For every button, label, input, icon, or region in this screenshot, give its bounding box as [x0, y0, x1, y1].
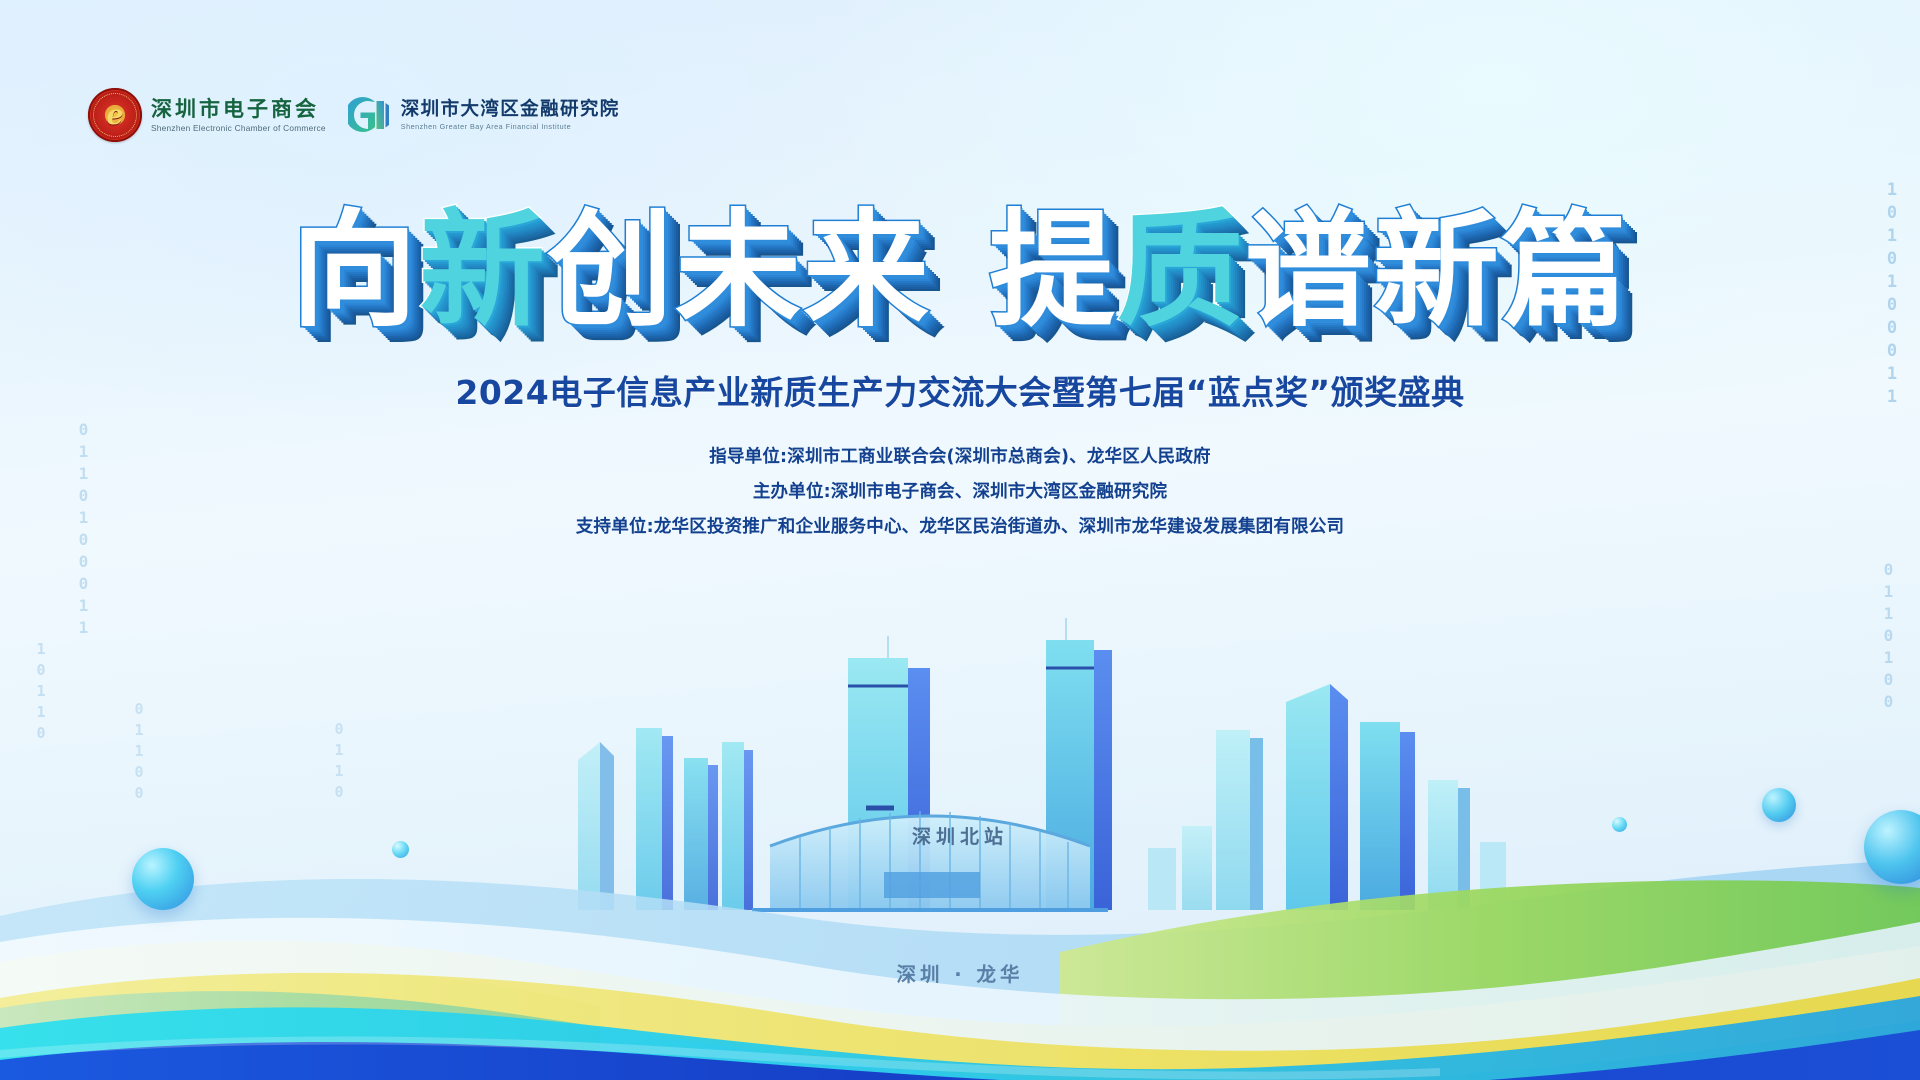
logo-text-block: 深圳市电子商会 Shenzhen Electronic Chamber of C…: [151, 97, 326, 133]
headline-char: 向: [291, 208, 419, 334]
place-label: 深圳 · 龙华: [0, 958, 1920, 987]
organizer-line-support: 支持单位:龙华区投资推广和企业服务中心、龙华区民治街道办、深圳市龙华建设发展集团…: [0, 510, 1920, 545]
banner-canvas: 1010100011 0110100 0110100011 10110 0110…: [0, 0, 1920, 1080]
headline-char: 篇: [1501, 208, 1629, 334]
headline-char-accent: 质: [1117, 208, 1245, 334]
logo-shenzhen-electronic-chamber-of-commerce: 深圳市电子商会 Shenzhen Electronic Chamber of C…: [88, 88, 326, 142]
headline-char: 未: [675, 208, 803, 334]
organizer-line-host: 主办单位:深圳市电子商会、深圳市大湾区金融研究院: [0, 475, 1920, 510]
headline-char: 新: [1373, 208, 1501, 334]
decor-orb-small-mid: [1612, 817, 1627, 832]
wave-decoration: [0, 720, 1920, 1080]
decor-orb-large-left: [132, 848, 194, 910]
organizer-line-guidance: 指导单位:深圳市工商业联合会(深圳市总商会)、龙华区人民政府: [0, 440, 1920, 475]
headline-char: 来: [803, 208, 931, 334]
organizer-block: 指导单位:深圳市工商业联合会(深圳市总商会)、龙华区人民政府 主办单位:深圳市电…: [0, 440, 1920, 545]
logo-name-cn: 深圳市电子商会: [151, 97, 326, 121]
decor-orb-medium-right: [1762, 788, 1796, 822]
logo-name-cn: 深圳市大湾区金融研究院: [401, 99, 620, 120]
headline-char-accent: 新: [419, 208, 547, 334]
headline-char: 谱: [1245, 208, 1373, 334]
logo-shenzhen-greater-bay-area-financial-institute: 深圳市大湾区金融研究院 Shenzhen Greater Bay Area Fi…: [348, 96, 620, 134]
logo-text-block: 深圳市大湾区金融研究院 Shenzhen Greater Bay Area Fi…: [401, 99, 620, 131]
headline-text: 向新创未来提质谱新篇: [291, 208, 1629, 334]
decor-orb-small-left: [392, 841, 409, 858]
headline-char: 创: [547, 208, 675, 334]
headline-char: 提: [989, 208, 1117, 334]
headline: 向新创未来提质谱新篇: [0, 208, 1920, 334]
event-subtitle: 2024电子信息产业新质生产力交流大会暨第七届“蓝点奖”颁奖盛典: [0, 366, 1920, 414]
red-seal-emblem-icon: [88, 88, 142, 142]
logo-name-en: Shenzhen Greater Bay Area Financial Inst…: [401, 122, 620, 131]
logo-name-en: Shenzhen Electronic Chamber of Commerce: [151, 123, 326, 133]
logo-bar: 深圳市电子商会 Shenzhen Electronic Chamber of C…: [88, 88, 620, 142]
gbi-monogram-icon: [348, 96, 392, 134]
